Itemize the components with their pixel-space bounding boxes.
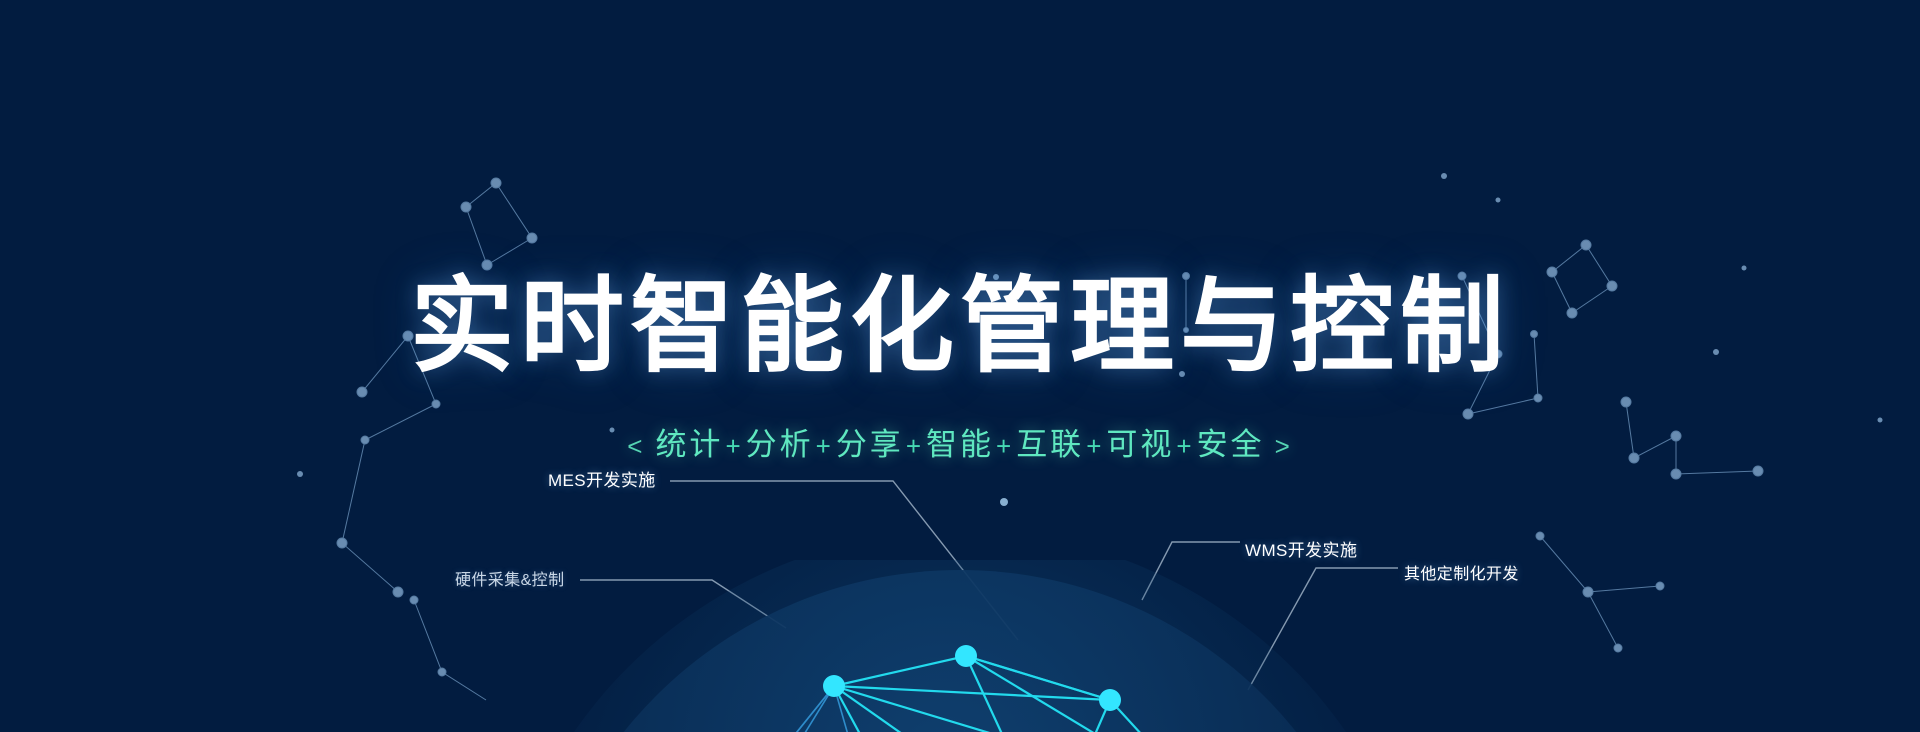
callout-label-custom: 其他定制化开发: [1404, 560, 1519, 584]
network-globe: [410, 560, 1510, 732]
callout-label-mes: MES开发实施: [548, 466, 656, 491]
hero-banner: 实时智能化管理与控制 <统计+分析+分享+智能+互联+可视+安全> MES开发实…: [0, 0, 1920, 732]
callout-label-wms: WMS开发实施: [1245, 536, 1357, 561]
callout-label-hardware: 硬件采集&控制: [455, 566, 564, 590]
